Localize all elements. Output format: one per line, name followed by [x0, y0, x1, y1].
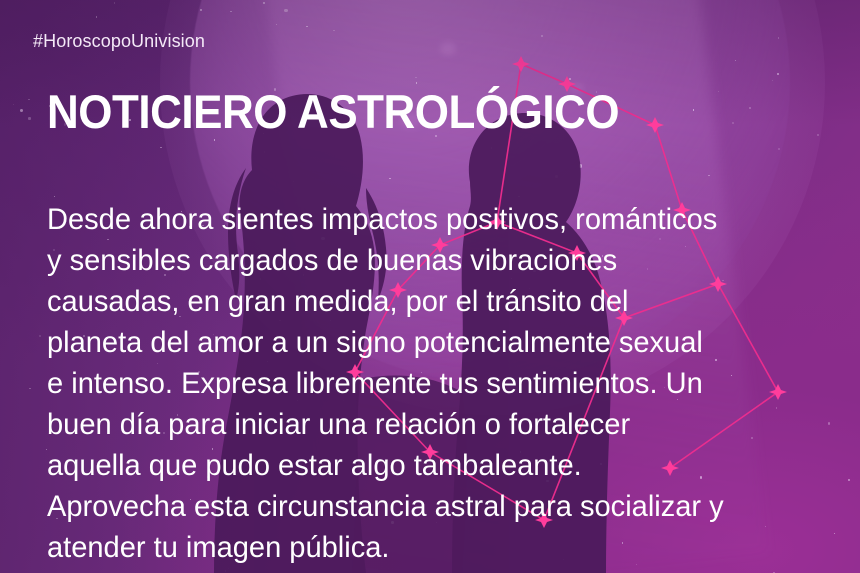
body-text-line: causadas, en gran medida, por el tránsit…: [47, 281, 825, 322]
hashtag-label: #HoroscopoUnivision: [33, 31, 205, 52]
horoscope-body-text: Desde ahora sientes impactos positivos, …: [47, 199, 837, 568]
horoscope-card: #HoroscopoUnivision NOTICIERO ASTROLÓGIC…: [0, 0, 860, 573]
body-text-line: y sensibles cargados de buenas vibracion…: [47, 240, 825, 281]
card-content: #HoroscopoUnivision NOTICIERO ASTROLÓGIC…: [0, 0, 860, 573]
body-text-line: aquella que pudo estar algo tambaleante.: [47, 445, 825, 486]
body-text-line: atender tu imagen pública.: [47, 527, 825, 568]
body-text-line: buen día para iniciar una relación o for…: [47, 404, 825, 445]
body-text-line: Aprovecha esta circunstancia astral para…: [47, 486, 825, 527]
body-text-line: Desde ahora sientes impactos positivos, …: [47, 199, 825, 240]
body-text-line: e intenso. Expresa libremente tus sentim…: [47, 363, 825, 404]
body-text-line: planeta del amor a un signo potencialmen…: [47, 322, 825, 363]
page-title: NOTICIERO ASTROLÓGICO: [47, 87, 619, 137]
